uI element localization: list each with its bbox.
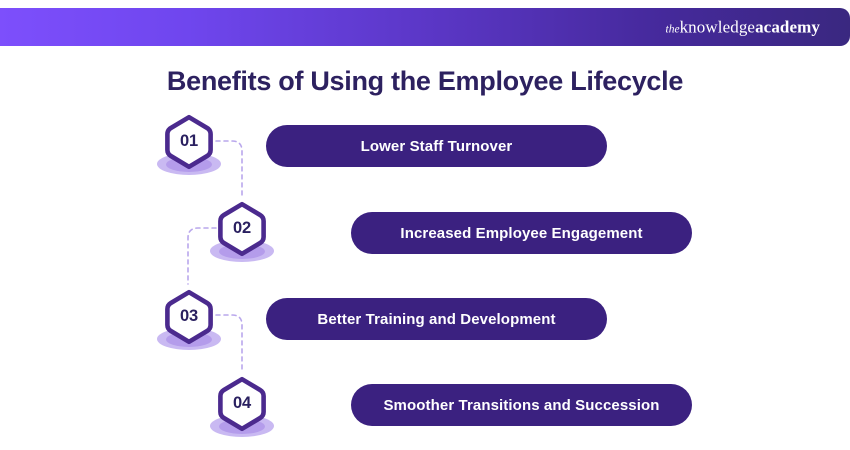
step-label-text: Better Training and Development: [317, 311, 555, 328]
step-number: 01: [162, 113, 216, 171]
step-marker-03[interactable]: 03: [162, 288, 216, 362]
step-label-pill-02[interactable]: Increased Employee Engagement: [351, 212, 692, 254]
infographic-canvas: theknowledgeacademy Benefits of Using th…: [0, 0, 850, 450]
step-label-text: Increased Employee Engagement: [400, 225, 642, 242]
step-number: 04: [215, 375, 269, 433]
step-label-text: Smoother Transitions and Succession: [383, 397, 659, 414]
step-label-pill-04[interactable]: Smoother Transitions and Succession: [351, 384, 692, 426]
step-marker-02[interactable]: 02: [215, 200, 269, 274]
step-label-text: Lower Staff Turnover: [361, 138, 513, 155]
step-number: 02: [215, 200, 269, 258]
step-marker-01[interactable]: 01: [162, 113, 216, 187]
step-marker-04[interactable]: 04: [215, 375, 269, 449]
steps-list: 01 Lower Staff Turnover 02 Increased Emp…: [0, 0, 850, 450]
step-label-pill-01[interactable]: Lower Staff Turnover: [266, 125, 607, 167]
step-number: 03: [162, 288, 216, 346]
step-label-pill-03[interactable]: Better Training and Development: [266, 298, 607, 340]
